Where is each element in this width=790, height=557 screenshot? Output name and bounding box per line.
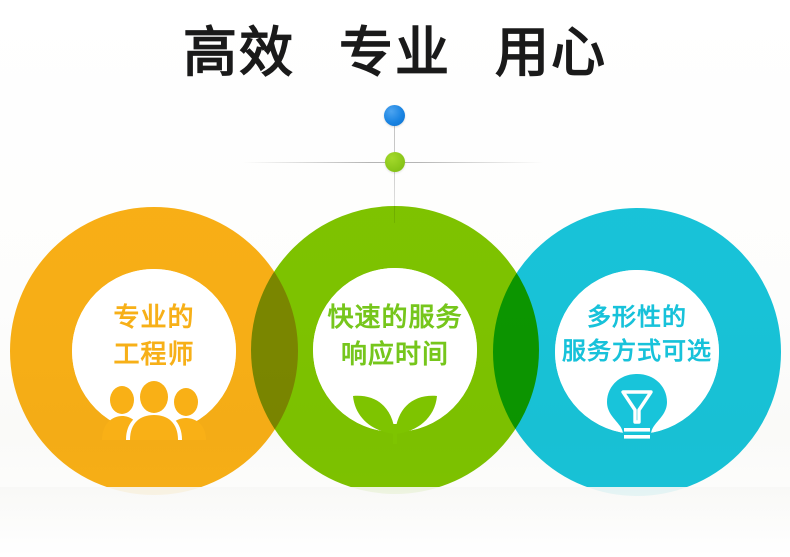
sprout-icon (343, 378, 447, 444)
circle-flexible-line1: 多形性的 (517, 300, 757, 334)
circle-flexible-line2: 服务方式可选 (517, 334, 757, 368)
lightbulb-icon (599, 372, 675, 444)
people-icon (100, 378, 208, 440)
circle-response-line1: 快速的服务 (275, 300, 515, 337)
poster-canvas: 高效专业用心 专业的 工程师 (0, 0, 790, 557)
circle-response-line2: 响应时间 (275, 337, 515, 374)
circle-engineers-line1: 专业的 (34, 300, 274, 337)
circle-content-engineers: 专业的 工程师 (34, 300, 274, 440)
circle-engineers-line2: 工程师 (34, 337, 274, 374)
circle-content-flexible: 多形性的 服务方式可选 (517, 300, 757, 444)
circle-content-response: 快速的服务 响应时间 (275, 300, 515, 444)
